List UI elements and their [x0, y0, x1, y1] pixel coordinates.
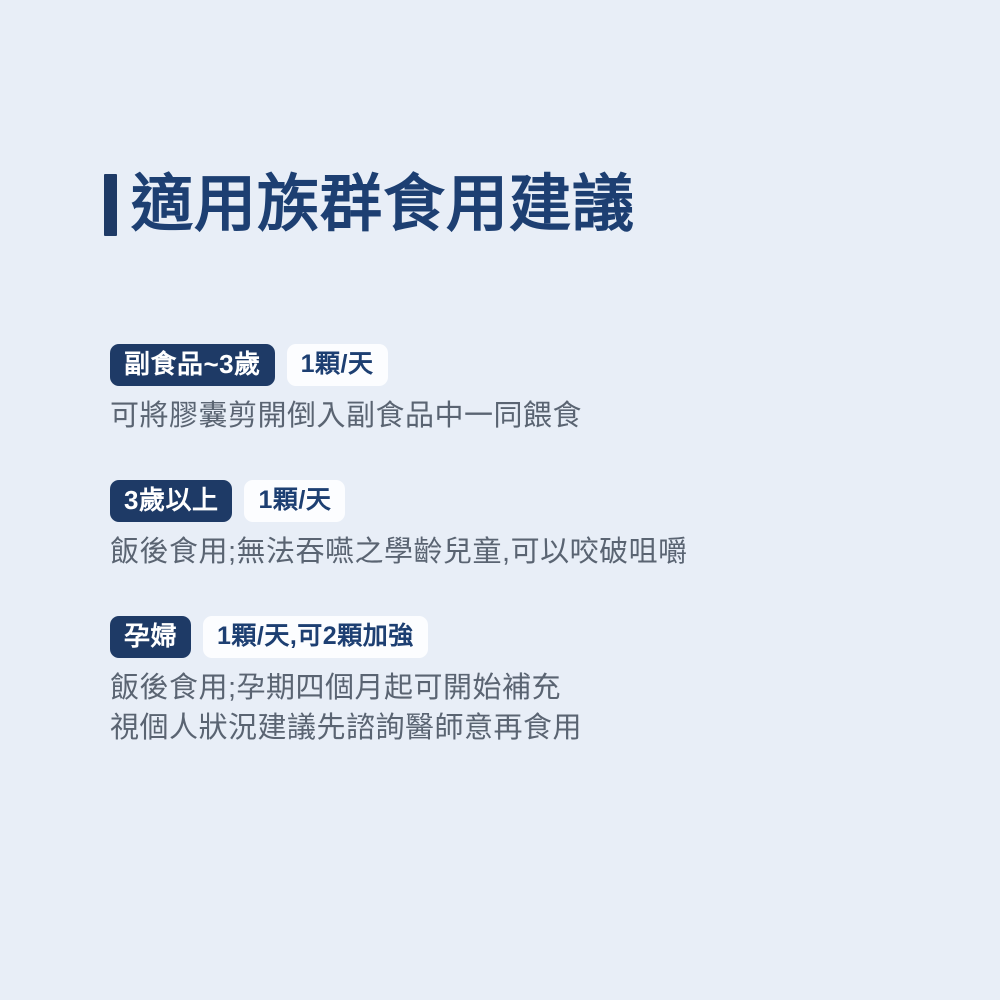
dosage-badge: 1顆/天	[244, 480, 345, 522]
section-description: 飯後食用;無法吞嚥之學齡兒童,可以咬破咀嚼	[110, 532, 930, 572]
recommendation-section: 孕婦 1顆/天,可2顆加強 飯後食用;孕期四個月起可開始補充 視個人狀況建議先諮…	[110, 616, 930, 748]
audience-badge: 3歲以上	[110, 480, 232, 522]
section-description: 可將膠囊剪開倒入副食品中一同餵食	[110, 396, 930, 436]
badge-row: 孕婦 1顆/天,可2顆加強	[110, 616, 930, 658]
heading-accent-bar-icon	[104, 174, 117, 236]
description-line: 視個人狀況建議先諮詢醫師意再食用	[110, 708, 930, 748]
description-line: 飯後食用;孕期四個月起可開始補充	[110, 668, 930, 708]
recommendation-sections: 副食品~3歲 1顆/天 可將膠囊剪開倒入副食品中一同餵食 3歲以上 1顆/天 飯…	[110, 344, 930, 748]
badge-row: 副食品~3歲 1顆/天	[110, 344, 930, 386]
recommendation-section: 副食品~3歲 1顆/天 可將膠囊剪開倒入副食品中一同餵食	[110, 344, 930, 436]
section-description: 飯後食用;孕期四個月起可開始補充 視個人狀況建議先諮詢醫師意再食用	[110, 668, 930, 748]
page-heading: 適用族群食用建議	[104, 172, 635, 238]
infographic-page: 適用族群食用建議 副食品~3歲 1顆/天 可將膠囊剪開倒入副食品中一同餵食 3歲…	[0, 0, 1000, 1000]
audience-badge: 副食品~3歲	[110, 344, 275, 386]
description-line: 可將膠囊剪開倒入副食品中一同餵食	[110, 396, 930, 436]
dosage-badge: 1顆/天,可2顆加強	[203, 616, 428, 658]
page-title: 適用族群食用建議	[131, 172, 635, 238]
dosage-badge: 1顆/天	[287, 344, 388, 386]
badge-row: 3歲以上 1顆/天	[110, 480, 930, 522]
audience-badge: 孕婦	[110, 616, 191, 658]
description-line: 飯後食用;無法吞嚥之學齡兒童,可以咬破咀嚼	[110, 532, 930, 572]
recommendation-section: 3歲以上 1顆/天 飯後食用;無法吞嚥之學齡兒童,可以咬破咀嚼	[110, 480, 930, 572]
